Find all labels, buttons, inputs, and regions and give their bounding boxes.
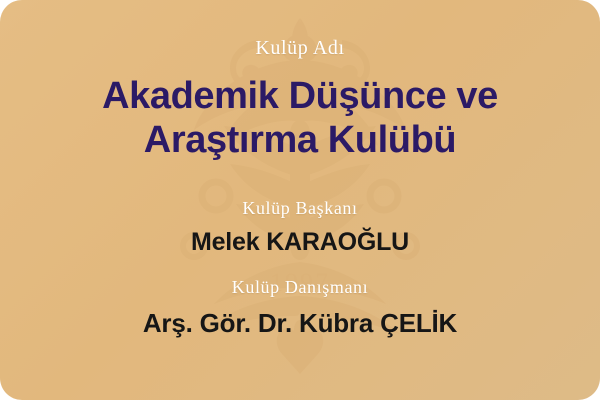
president-name: Melek KARAOĞLU (191, 230, 409, 255)
club-title: Akademik Düşünce ve Araştırma Kulübü (102, 74, 498, 163)
club-info-card: 1997 Kulüp Adı Akademik Düşünce ve Araşt… (0, 0, 600, 400)
card-content: Kulüp Adı Akademik Düşünce ve Araştırma … (0, 0, 600, 400)
club-title-line-2: Araştırma Kulübü (102, 118, 498, 162)
advisor-label: Kulüp Danışmanı (232, 278, 369, 296)
club-name-label: Kulüp Adı (255, 38, 344, 58)
advisor-name: Arş. Gör. Dr. Kübra ÇELİK (143, 310, 457, 336)
club-title-line-1: Akademik Düşünce ve (102, 74, 498, 118)
president-label: Kulüp Başkanı (242, 199, 357, 217)
